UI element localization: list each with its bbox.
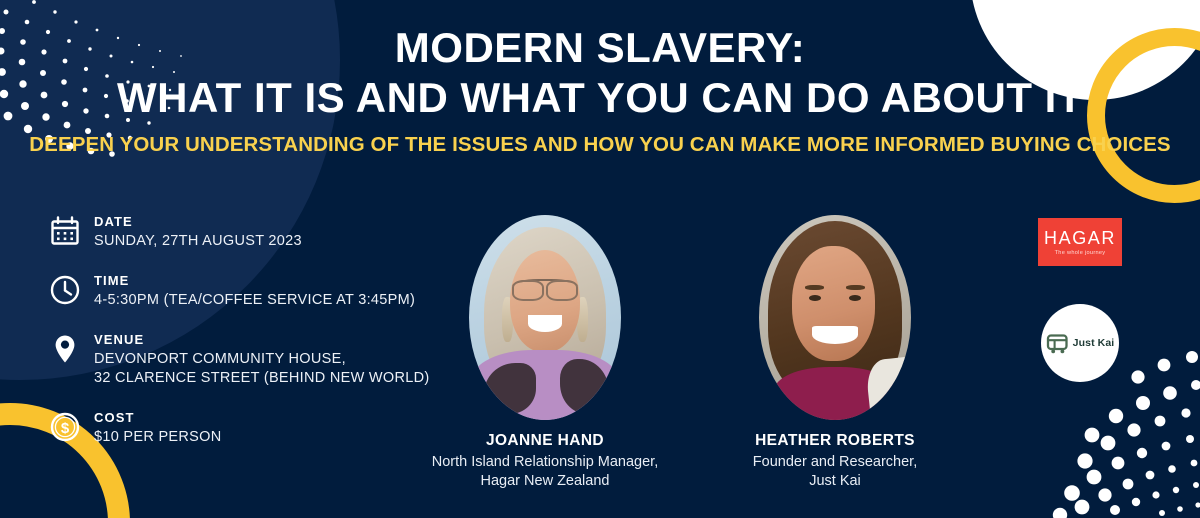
joanne-portrait [469, 215, 621, 420]
speaker-role-heather-line-2: Just Kai [720, 472, 950, 491]
detail-item-time: TIME 4-5:30PM (TEA/COFFEE SERVICE AT 3:4… [46, 271, 466, 311]
headline-block: MODERN SLAVERY: WHAT IT IS AND WHAT YOU … [0, 26, 1200, 157]
speaker-role-joanne: North Island Relationship Manager, Hagar… [430, 453, 660, 491]
detail-text-time: TIME 4-5:30PM (TEA/COFFEE SERVICE AT 3:4… [94, 271, 415, 311]
detail-value-cost-line-1: $10 PER PERSON [94, 428, 222, 448]
title-line-2: WHAT IT IS AND WHAT YOU CAN DO ABOUT IT [0, 76, 1200, 120]
detail-value-venue: DEVONPORT COMMUNITY HOUSE, 32 CLARENCE S… [94, 350, 430, 389]
hagar-logo-word: HAGAR [1044, 229, 1116, 247]
detail-label-venue: VENUE [94, 332, 430, 348]
speakers-section: JOANNE HAND North Island Relationship Ma… [430, 215, 950, 491]
detail-value-time: 4-5:30PM (TEA/COFFEE SERVICE AT 3:45PM) [94, 291, 415, 311]
detail-value-cost: $10 PER PERSON [94, 428, 222, 448]
detail-item-venue: VENUE DEVONPORT COMMUNITY HOUSE, 32 CLAR… [46, 330, 466, 389]
detail-value-time-line-1: 4-5:30PM (TEA/COFFEE SERVICE AT 3:45PM) [94, 291, 415, 311]
event-banner: MODERN SLAVERY: WHAT IT IS AND WHAT YOU … [0, 0, 1200, 518]
map-pin-icon [46, 330, 84, 368]
speaker-name-heather: HEATHER ROBERTS [720, 432, 950, 450]
dollar-coin-icon: $ [46, 408, 84, 446]
detail-value-date-line-1: SUNDAY, 27TH AUGUST 2023 [94, 232, 302, 252]
heather-portrait [759, 215, 911, 420]
just-kai-logo-word: Just Kai [1073, 337, 1115, 349]
detail-value-date: SUNDAY, 27TH AUGUST 2023 [94, 232, 302, 252]
svg-text:$: $ [61, 420, 70, 437]
detail-text-venue: VENUE DEVONPORT COMMUNITY HOUSE, 32 CLAR… [94, 330, 430, 389]
speaker-name-joanne: JOANNE HAND [430, 432, 660, 450]
hagar-logo-tagline: The whole journey [1055, 250, 1106, 256]
speaker-heather-roberts: HEATHER ROBERTS Founder and Researcher, … [720, 215, 950, 491]
calendar-icon [46, 212, 84, 250]
speaker-role-heather: Founder and Researcher, Just Kai [720, 453, 950, 491]
hagar-logo: HAGAR The whole journey [1038, 218, 1122, 266]
clock-icon [46, 271, 84, 309]
subtitle: DEEPEN YOUR UNDERSTANDING OF THE ISSUES … [0, 133, 1200, 157]
detail-text-cost: COST $10 PER PERSON [94, 408, 222, 448]
detail-item-date: DATE SUNDAY, 27TH AUGUST 2023 [46, 212, 466, 252]
logos-section: HAGAR The whole journey Just Kai [1030, 218, 1130, 382]
detail-label-date: DATE [94, 214, 302, 230]
detail-text-date: DATE SUNDAY, 27TH AUGUST 2023 [94, 212, 302, 252]
title-line-1: MODERN SLAVERY: [0, 26, 1200, 70]
speaker-role-joanne-line-2: Hagar New Zealand [430, 472, 660, 491]
detail-label-cost: COST [94, 410, 222, 426]
detail-value-venue-line-1: DEVONPORT COMMUNITY HOUSE, [94, 350, 430, 370]
detail-value-venue-line-2: 32 CLARENCE STREET (BEHIND NEW WORLD) [94, 369, 430, 389]
detail-item-cost: $ COST $10 PER PERSON [46, 408, 466, 448]
shopping-cart-icon [1046, 332, 1070, 354]
detail-label-time: TIME [94, 273, 415, 289]
speaker-role-joanne-line-1: North Island Relationship Manager, [430, 453, 660, 472]
just-kai-logo: Just Kai [1041, 304, 1119, 382]
speaker-joanne-hand: JOANNE HAND North Island Relationship Ma… [430, 215, 660, 491]
speaker-role-heather-line-1: Founder and Researcher, [720, 453, 950, 472]
event-details-list: DATE SUNDAY, 27TH AUGUST 2023 TIME 4-5:3… [46, 212, 466, 467]
